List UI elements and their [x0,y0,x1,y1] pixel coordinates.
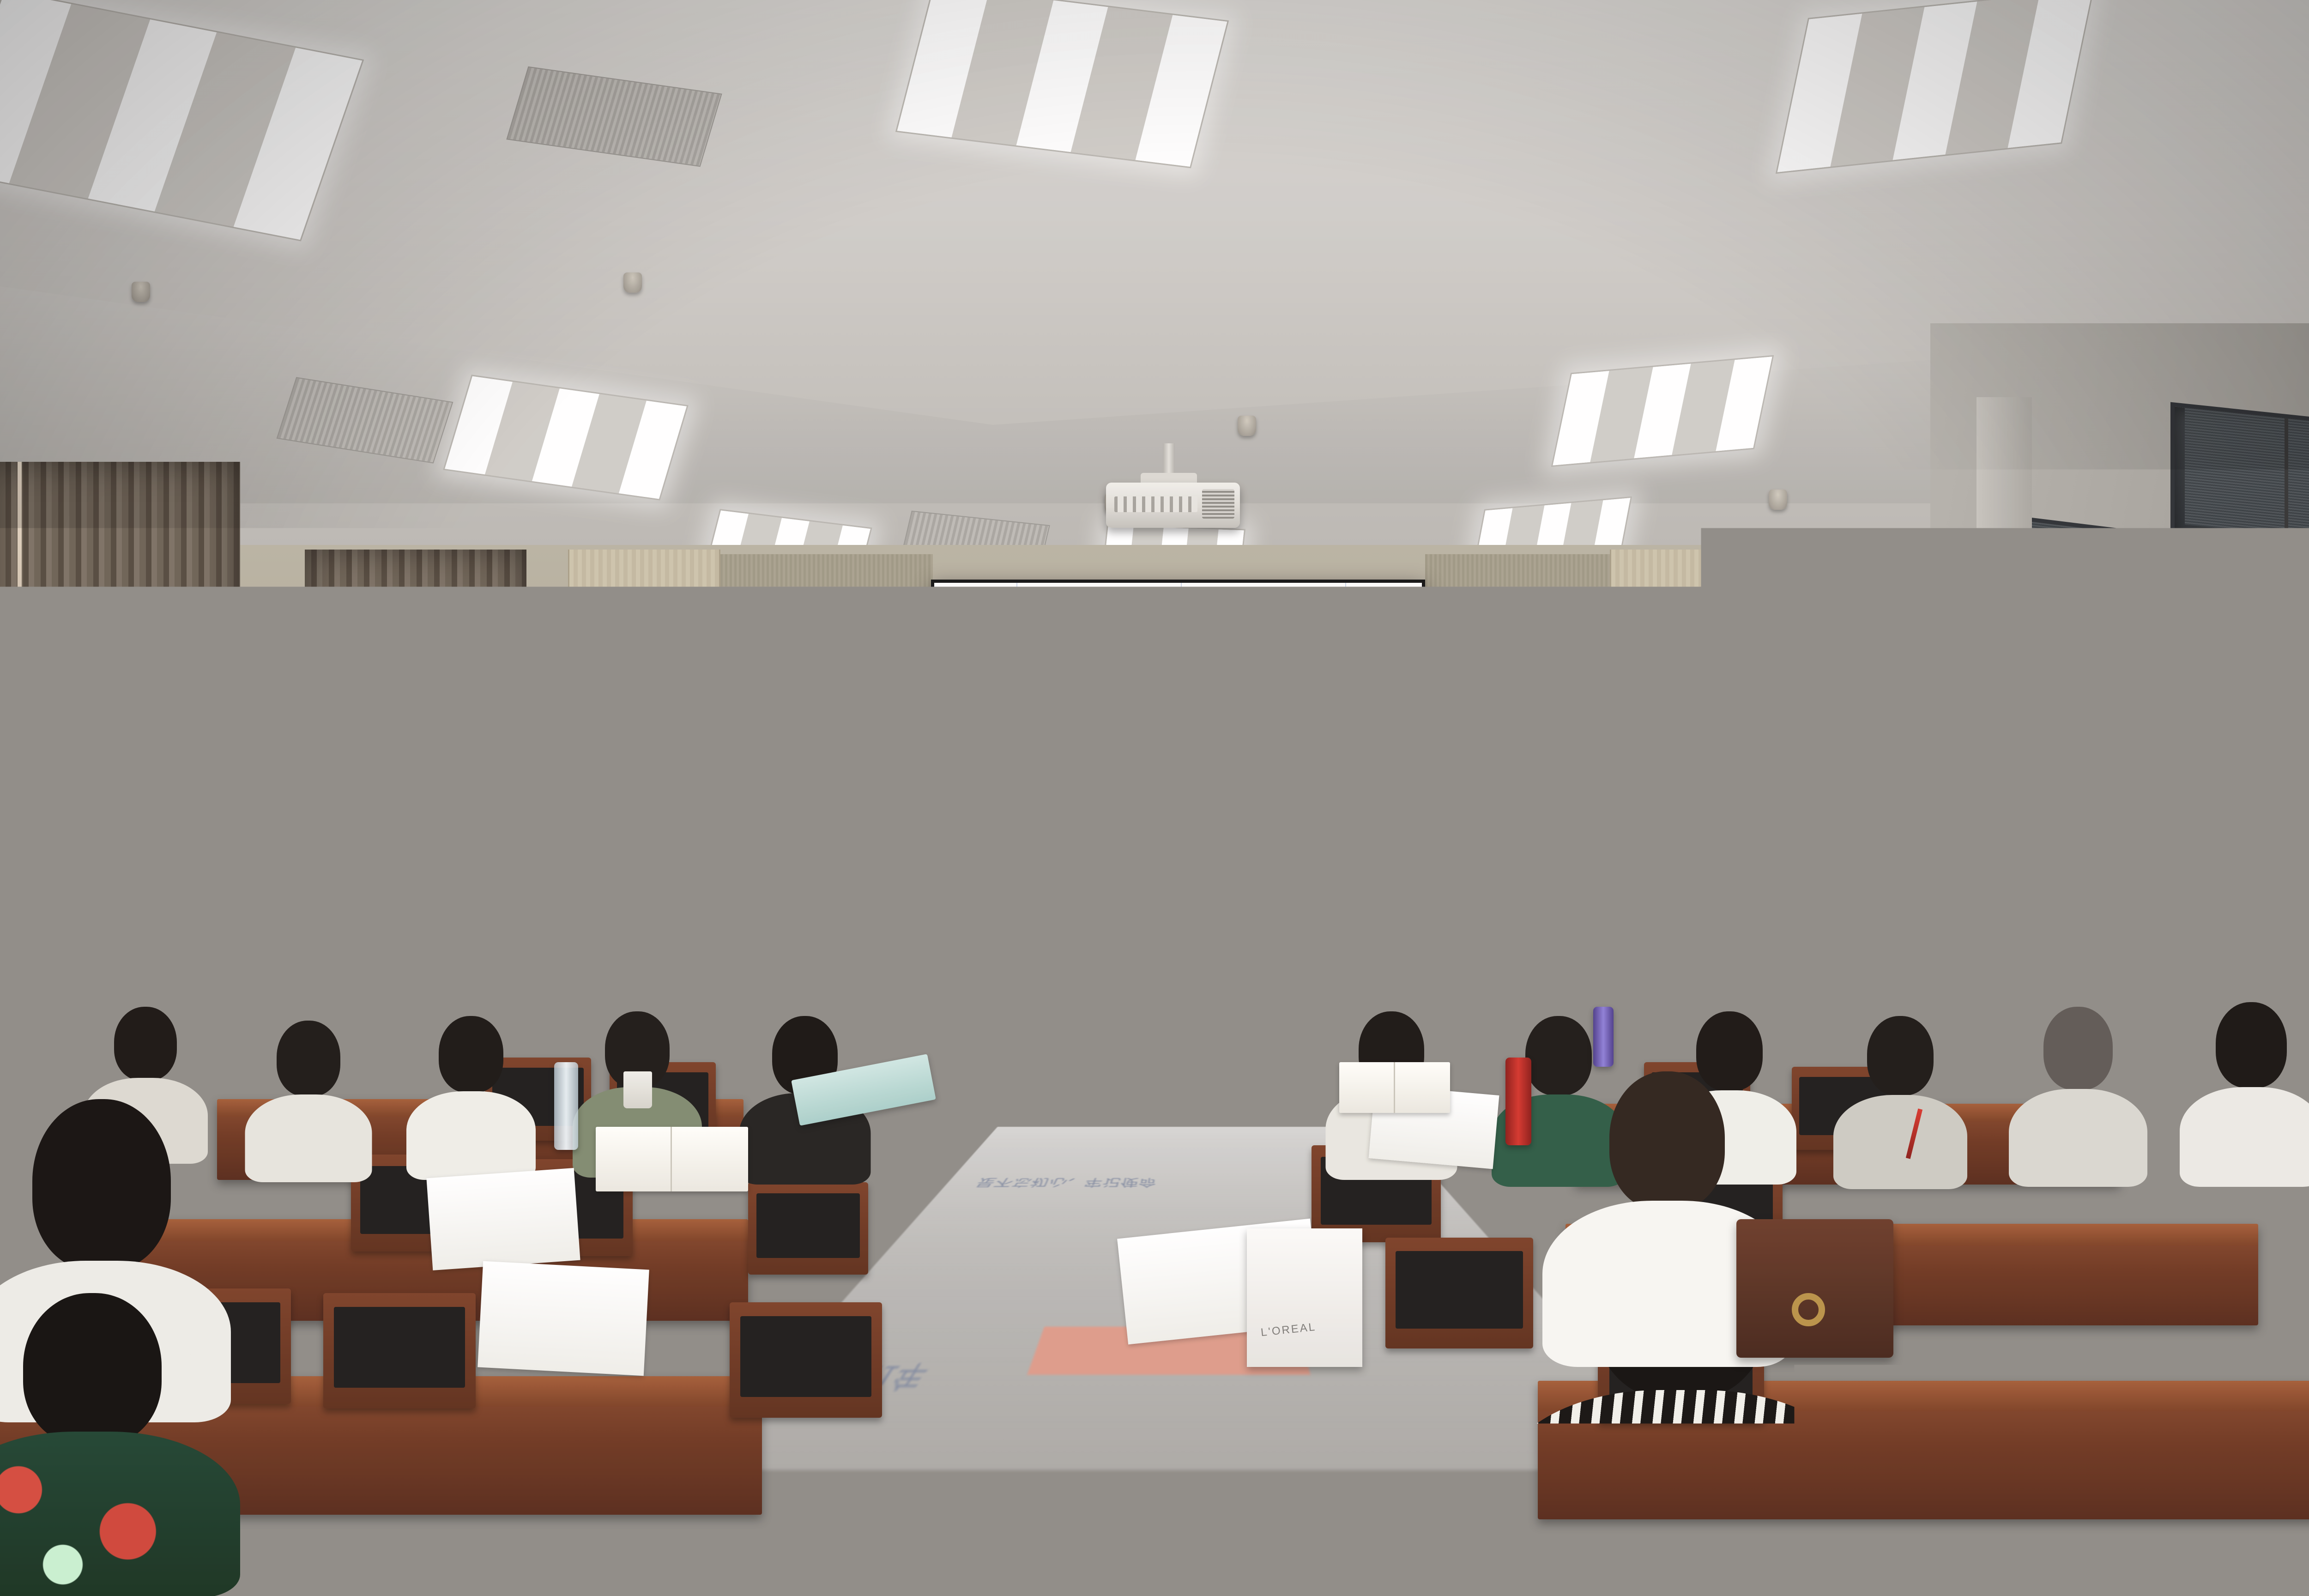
slide-year-label: 2021年 [1000,619,1078,649]
audience-head [114,1007,177,1081]
slide-body-line-3: 是开创历史、奠定基业、开辟未来的100年 [954,745,1239,766]
audience-head [1922,868,1960,913]
tote-bag-black [785,1104,933,1298]
projector-vent-grill [1202,489,1234,519]
slide-body-line-3-text: 是开创历史、奠定基业、开辟未来的 [954,748,1197,765]
audience-member [2180,1002,2309,1187]
notebook-spine [671,1127,672,1191]
audience-torso [2180,1087,2309,1187]
audience-torso [2009,1089,2147,1187]
slide-body-line-1-number: 100 [1197,690,1223,707]
slide-body-line-2: 是解放思想、实事求是、与时俱进的100年 [954,716,1239,737]
audience-torso [905,983,997,1044]
audience-head [809,924,856,980]
water-bottle-clear [554,1062,578,1150]
ceiling-projector [1106,483,1240,528]
bottle-cap [1137,868,1148,876]
presenter-torso [1030,867,1136,919]
window-right [2170,402,2309,716]
foreground-torso-floral-dress [0,1432,240,1596]
audience-head [1612,864,1651,909]
audience-member [905,928,997,1044]
presenter-right [1242,813,1358,919]
thermos-bottle-red [1173,1039,1195,1108]
chair [730,1302,882,1418]
slide-body-line-2-unit: 年 [1223,719,1239,736]
presenter-left [1030,827,1136,919]
wall-speaker-left-mount [699,698,717,729]
audience-head [480,868,518,913]
audience-head [277,868,314,913]
projector-ports [1114,496,1197,512]
window-mullion [2126,533,2129,784]
slide-body-line-2-number: 100 [1197,719,1223,736]
foreground-head [1609,1071,1725,1210]
speaker-logo [689,693,701,695]
slide-year-number: 2021 [1000,623,1056,648]
audience-member [2009,1007,2147,1187]
slide-body-line-2-text: 是解放思想、实事求是、与时俱进的 [954,719,1197,736]
audience-head [1717,868,1755,913]
audience-head [1732,928,1780,985]
audience-torso [406,1091,536,1180]
inset-photo-banner-text: 党史学习教育动员大会 [1297,779,1390,792]
audience-torso [1833,1095,1967,1189]
audience-head [1506,868,1545,913]
audience-head [674,868,711,912]
handbag-brown [1736,1219,1893,1358]
open-notebook [1339,1062,1450,1113]
slide-body-line-1-unit: 年 [1223,690,1239,707]
slide-body-line-3-unit: 年 [1223,748,1239,765]
shopping-bag-brand-text: L'OREAL [1260,1321,1317,1339]
wall-camera [1635,667,1666,691]
audience-head [1483,928,1531,985]
audience-head [277,1021,340,1096]
sprinkler-head [623,272,642,293]
window-blind [2026,521,2176,645]
audience-head [928,928,974,984]
audience-head [1982,924,2031,982]
audience-head [2216,1002,2287,1088]
slide-body-line-1-text: 是不忘初心、牢记使命、接续奋斗的 [954,690,1197,707]
audience-head [1820,864,1859,909]
chair [323,1293,476,1409]
sprinkler-head [1238,416,1256,436]
foreground-head [23,1293,162,1445]
audience-head [772,864,810,909]
handbag-ring-clasp-icon [1792,1293,1825,1326]
audience-head [448,924,494,979]
shopping-bag: L'OREAL [1247,1228,1362,1367]
foreground-torso-striped-top [1501,1390,1861,1596]
audience-head [1867,1016,1934,1095]
foreground-head [32,1099,171,1270]
thermos-bottle-purple [1593,1007,1614,1067]
wall-speaker-left [669,634,720,703]
audience-head [2108,919,2158,979]
window-blind [2185,408,2309,540]
paper-cup [623,1071,652,1108]
audience-head [569,928,616,985]
audience-head [439,1016,503,1093]
audience-head [324,928,372,985]
audience-torso [245,1094,372,1182]
ceiling-light-panel [1551,355,1774,467]
handout-papers [426,1168,580,1270]
audience-head-grey-hair [2043,1007,2113,1090]
audience-head [375,864,413,910]
thermos-bottle-red [1505,1058,1531,1145]
notebook-spine [1394,1062,1395,1113]
audience-head-grey-hair [2238,914,2292,978]
presenter-torso [1243,860,1357,919]
slide-title-text: 是中国共产党成立100周年 [1085,618,1285,642]
audience-head [208,919,254,973]
window-mullion [2285,418,2288,697]
audience-head [578,864,617,909]
audience-head [1359,924,1406,980]
audience-head [1608,924,1655,980]
audience-member [1833,1016,1967,1189]
sprinkler-head [132,282,150,302]
open-notebook [596,1127,748,1191]
audience-head [868,868,906,913]
slide-body-line-1: 是不忘初心、牢记使命、接续奋斗的100年 [954,687,1239,708]
sprinkler-head [1769,490,1787,510]
slide-body-line-3-number: 100 [1197,748,1223,765]
audience-member [406,1016,536,1180]
audience-member [245,1021,372,1182]
conference-room-photo: 2021年 是中国共产党成立100周年 中国共产党的 100年 [0,0,2309,1596]
slide-title-banner: 是中国共产党成立100周年 [1070,613,1300,647]
audience-head [2033,864,2073,911]
handout-papers [478,1261,649,1376]
head-table-panel-seam [1228,915,1231,1060]
audience-head [1857,924,1904,980]
speaker-logo [1631,693,1643,695]
audience-head [688,924,734,979]
camera-lens [1643,689,1655,716]
floor-reflection-text-1: 是不忘初心、牢记使命 [971,1176,1158,1191]
foreground-audience-floral [0,1293,240,1596]
